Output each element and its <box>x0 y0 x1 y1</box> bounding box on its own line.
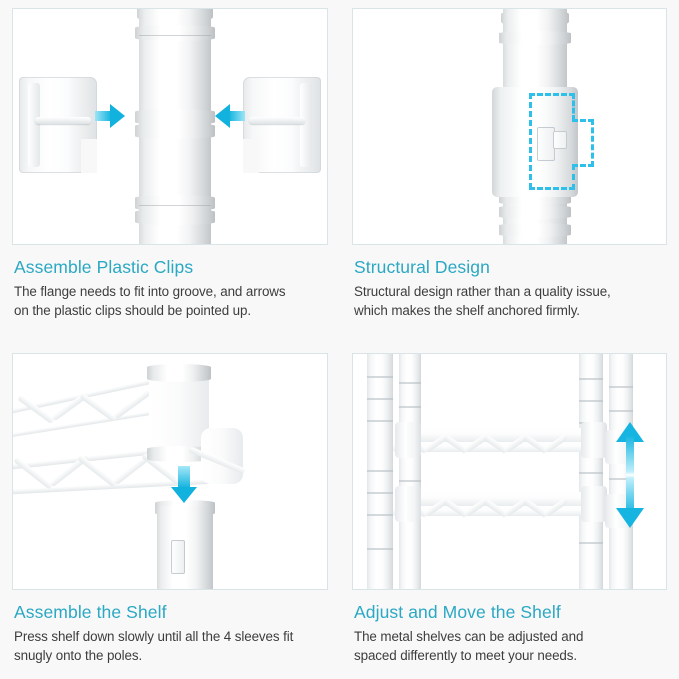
clip-notch <box>243 139 259 173</box>
panel-body: Structural design rather than a quality … <box>354 282 665 320</box>
panel-heading: Assemble the Shelf <box>14 602 326 622</box>
panel-heading: Assemble Plastic Clips <box>14 257 326 277</box>
clip-flange <box>35 117 91 124</box>
dashed-outline-right-upper <box>572 93 575 121</box>
arrow-left-icon <box>215 104 245 128</box>
illustration-assemble-the-shelf <box>12 353 328 590</box>
panel-body-line-2: snugly onto the poles. <box>14 646 326 665</box>
pole-ring-4 <box>499 223 571 237</box>
panel-heading: Structural Design <box>354 257 665 277</box>
panel-body-line-2: on the plastic clips should be pointed u… <box>14 301 326 320</box>
instruction-grid: Assemble Plastic Clips The flange needs … <box>0 0 679 679</box>
pole-ring-3 <box>499 205 571 219</box>
shelf-lower-sleeve-left <box>395 486 421 522</box>
panel-body: Press shelf down slowly until all the 4 … <box>14 627 326 665</box>
arrow-head <box>110 104 125 128</box>
arrow-up-down-icon <box>616 422 644 528</box>
illustration-structural-design <box>352 8 667 245</box>
arrow-head-down <box>616 508 644 528</box>
pole-seam-1 <box>139 35 211 36</box>
arrow-tail <box>229 111 245 121</box>
panel-body-line-1: The flange needs to fit into groove, and… <box>14 282 326 301</box>
clip-inner-wall <box>300 83 312 167</box>
panel-assemble-the-shelf: Assemble the Shelf Press shelf down slow… <box>0 345 340 679</box>
sleeve-locking-tab <box>171 540 185 574</box>
shelf-upper-sleeve-right <box>581 422 607 458</box>
collar-top-rim <box>147 364 211 382</box>
locking-tab-groove <box>553 131 567 149</box>
dashed-outline-right-mid <box>591 119 594 167</box>
panel-body-line-2: which makes the shelf anchored firmly. <box>354 301 665 320</box>
panel-heading: Adjust and Move the Shelf <box>354 602 665 622</box>
clip-inner-wall <box>28 83 40 167</box>
shelf-upper-sleeve-left <box>395 422 421 458</box>
clip-flange <box>249 117 305 124</box>
shelf-lower-sleeve-right <box>581 486 607 522</box>
arrow-stem <box>626 436 634 514</box>
dashed-outline-left <box>529 93 532 189</box>
panel-body-line-2: spaced differently to meet your needs. <box>354 646 665 665</box>
dashed-outline-top <box>529 93 575 96</box>
sleeve-body <box>157 506 213 590</box>
panel-structural-design: Structural Design Structural design rath… <box>340 0 679 345</box>
shelf-upper-deck <box>397 428 601 442</box>
panel-body-line-1: The metal shelves can be adjusted and <box>354 627 665 646</box>
pole-ring-1 <box>135 25 215 41</box>
dashed-outline-step-bottom <box>572 164 594 167</box>
panel-body: The metal shelves can be adjusted and sp… <box>354 627 665 665</box>
pole-ring-3 <box>135 123 215 139</box>
panel-adjust-and-move-the-shelf: Adjust and Move the Shelf The metal shel… <box>340 345 679 679</box>
arrow-right-icon <box>95 104 125 128</box>
panel-body: The flange needs to fit into groove, and… <box>14 282 326 320</box>
arrow-head <box>171 487 197 503</box>
illustration-adjust-and-move-the-shelf <box>352 353 667 590</box>
arrow-head <box>215 104 230 128</box>
caption-adjust-and-move-the-shelf: Adjust and Move the Shelf The metal shel… <box>352 590 667 665</box>
panel-body-line-1: Press shelf down slowly until all the 4 … <box>14 627 326 646</box>
caption-assemble-plastic-clips: Assemble Plastic Clips The flange needs … <box>12 245 328 320</box>
pole-ring-5 <box>135 209 215 225</box>
illustration-assemble-plastic-clips <box>12 8 328 245</box>
caption-structural-design: Structural Design Structural design rath… <box>352 245 667 320</box>
pole-back-left <box>367 353 393 590</box>
shelf-corner-collar <box>149 370 209 454</box>
panel-assemble-plastic-clips: Assemble Plastic Clips The flange needs … <box>0 0 340 345</box>
shelf-lower-deck <box>397 492 601 506</box>
panel-body-line-1: Structural design rather than a quality … <box>354 282 665 301</box>
pole-back-right <box>579 353 603 590</box>
plastic-clip-left <box>19 77 97 173</box>
plastic-clip-right <box>243 77 321 173</box>
pole-seam-2 <box>139 205 211 206</box>
clip-notch <box>81 139 97 173</box>
arrow-tail <box>95 111 111 121</box>
arrow-tail <box>178 466 190 488</box>
caption-assemble-the-shelf: Assemble the Shelf Press shelf down slow… <box>12 590 328 665</box>
pole-front-left <box>399 353 421 590</box>
dashed-outline-bottom <box>529 187 575 190</box>
pole-ring-1 <box>499 31 571 45</box>
